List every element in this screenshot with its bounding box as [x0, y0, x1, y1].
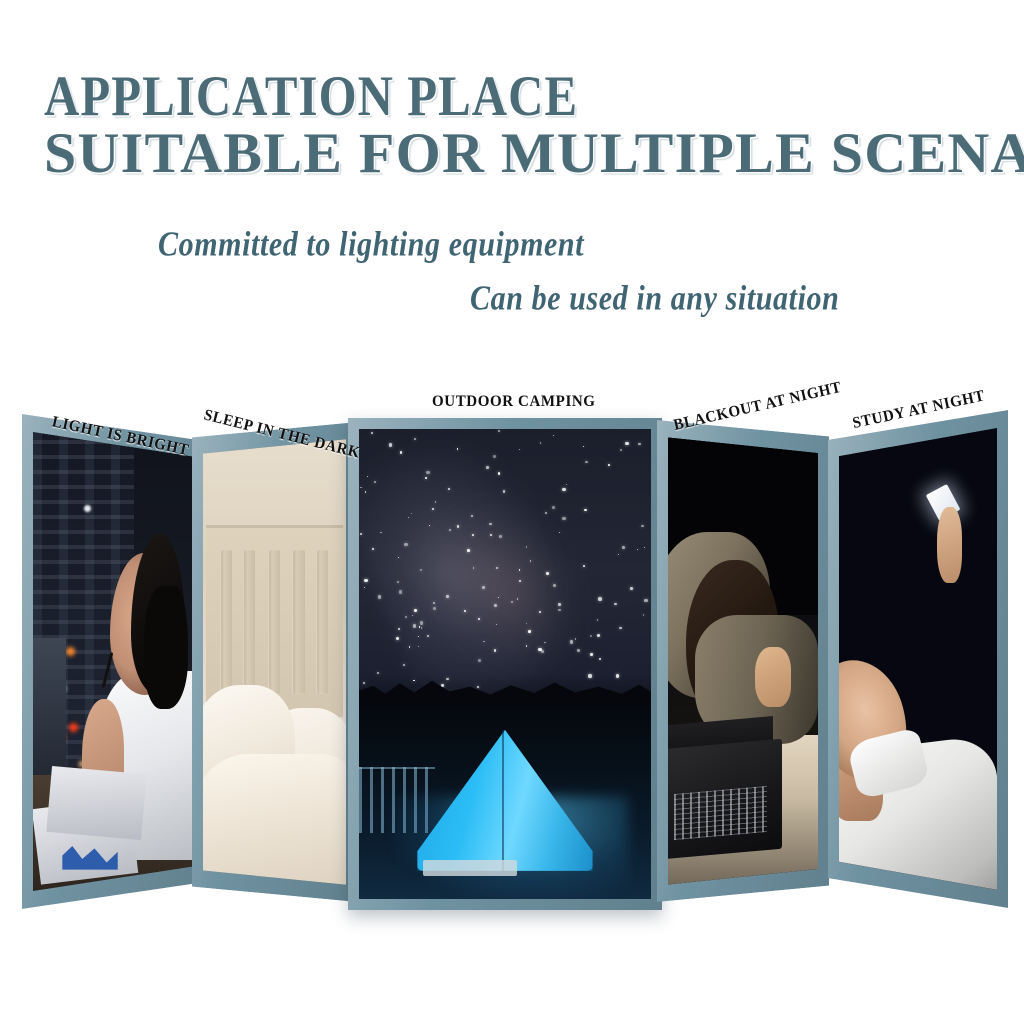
star	[433, 602, 435, 604]
laptop-keyboard	[674, 786, 767, 840]
star	[519, 449, 521, 451]
star	[446, 595, 449, 598]
scene-camping-night	[359, 429, 651, 899]
bokeh-light	[69, 723, 78, 732]
scene-study-night	[839, 421, 997, 897]
star	[464, 610, 466, 612]
star	[498, 597, 499, 598]
star	[403, 664, 405, 666]
star	[448, 488, 450, 490]
star	[473, 567, 474, 568]
star	[597, 634, 600, 637]
star	[414, 609, 417, 612]
star	[446, 678, 449, 681]
star	[526, 645, 527, 646]
star	[467, 549, 470, 552]
star	[566, 484, 568, 486]
scene-office-night	[33, 425, 196, 898]
scenario-panel-sleep-in-the-dark[interactable]	[192, 422, 357, 902]
page-subtitle: Committed to lighting equipment Can be u…	[0, 228, 1024, 316]
star	[490, 534, 492, 536]
star	[449, 529, 451, 531]
star	[435, 501, 437, 503]
star	[641, 525, 644, 528]
star	[584, 509, 587, 512]
star	[421, 627, 422, 628]
star	[494, 604, 497, 607]
star	[360, 487, 361, 488]
star	[420, 621, 423, 624]
star	[482, 586, 485, 589]
page-title: APPLICATION PLACE SUITABLE FOR MULTIPLE …	[44, 76, 1004, 176]
star	[425, 477, 427, 479]
star	[541, 650, 544, 653]
star	[630, 587, 633, 590]
subtitle-line-1: Committed to lighting equipment	[158, 225, 1024, 265]
star	[546, 572, 549, 575]
star	[489, 523, 491, 525]
headboard-slat	[316, 550, 328, 694]
star	[426, 471, 429, 474]
star	[643, 614, 645, 616]
star	[499, 535, 502, 538]
hand	[937, 507, 962, 583]
star	[418, 646, 419, 647]
star	[412, 615, 413, 616]
paper-sheet	[47, 766, 147, 840]
scene-bedroom	[203, 433, 346, 891]
star	[413, 680, 414, 681]
star	[371, 432, 373, 434]
hair-back	[144, 586, 188, 709]
star	[498, 430, 500, 432]
headline-line-1: APPLICATION PLACE	[44, 71, 1024, 124]
star	[420, 569, 422, 571]
star	[441, 684, 444, 687]
star	[494, 649, 497, 652]
star	[413, 624, 416, 627]
star	[496, 567, 498, 569]
star	[418, 636, 419, 637]
star	[519, 580, 521, 582]
star	[644, 547, 646, 549]
star	[503, 490, 506, 493]
star	[528, 630, 531, 633]
star	[477, 686, 479, 688]
star	[544, 642, 546, 644]
panel-photo-study-at-night	[839, 421, 997, 897]
star	[511, 601, 513, 603]
bokeh-light	[84, 505, 91, 512]
star	[585, 461, 587, 463]
star	[598, 597, 602, 601]
star	[583, 565, 585, 567]
star	[457, 448, 458, 449]
star	[526, 623, 527, 624]
scenario-panel-study-at-night[interactable]	[828, 410, 1008, 908]
star	[478, 659, 481, 662]
star	[616, 674, 619, 677]
star	[590, 653, 593, 656]
tent-seam	[502, 730, 504, 871]
star	[396, 637, 399, 640]
scenario-panel-light-is-bright[interactable]	[22, 414, 207, 909]
star	[374, 481, 376, 483]
star	[409, 646, 410, 647]
tent-base	[423, 860, 516, 875]
star	[378, 595, 381, 598]
panel-photo-sleep-in-the-dark	[203, 433, 346, 891]
star	[517, 598, 519, 600]
star	[478, 618, 479, 619]
star	[496, 624, 498, 626]
star	[558, 609, 560, 611]
star	[411, 513, 412, 514]
star	[526, 546, 528, 548]
star	[429, 525, 431, 527]
bokeh-light	[66, 647, 75, 656]
poster-stage: APPLICATION PLACE SUITABLE FOR MULTIPLE …	[0, 0, 1024, 1024]
star	[562, 517, 565, 520]
star	[519, 569, 521, 571]
star	[398, 557, 399, 558]
star	[558, 603, 561, 606]
star	[614, 603, 616, 605]
star	[471, 515, 473, 517]
star	[588, 674, 591, 677]
star	[364, 579, 367, 582]
star	[397, 581, 399, 583]
star	[599, 658, 602, 661]
star	[432, 508, 433, 509]
scenario-panel-group	[0, 372, 1024, 972]
star	[540, 442, 541, 443]
star	[404, 543, 407, 546]
star	[638, 443, 641, 446]
duvet	[203, 754, 346, 891]
headboard-slat	[292, 550, 304, 694]
panel-photo-blackout-at-night	[668, 431, 818, 891]
star	[644, 599, 647, 602]
star	[493, 455, 496, 458]
star	[408, 517, 409, 518]
star	[545, 512, 547, 514]
star	[389, 443, 392, 446]
star	[620, 449, 622, 451]
star	[360, 533, 362, 535]
star	[562, 488, 565, 491]
star	[372, 548, 374, 550]
scene-blackout-desk	[668, 431, 818, 891]
headboard-slat	[243, 550, 255, 694]
star	[539, 611, 541, 613]
headboard-slat	[268, 550, 280, 694]
star	[377, 672, 380, 675]
panel-photo-outdoor-camping	[359, 429, 651, 899]
star	[399, 590, 402, 593]
star	[427, 635, 429, 637]
star	[472, 534, 474, 536]
star	[625, 442, 629, 446]
headline-line-2: SUITABLE FOR MULTIPLE SCENARIOS	[44, 128, 1024, 181]
star	[433, 607, 436, 610]
star	[570, 640, 574, 644]
subtitle-line-2: Can be used in any situation	[470, 279, 1024, 319]
star	[597, 619, 599, 621]
star	[590, 635, 592, 637]
star	[608, 464, 610, 466]
star	[583, 446, 584, 447]
panel-photo-light-is-bright	[33, 425, 196, 898]
star	[457, 525, 460, 528]
star	[552, 506, 555, 509]
star	[619, 627, 621, 629]
star	[398, 628, 401, 631]
star	[553, 584, 556, 587]
panel-caption-outdoor-camping: OUTDOOR CAMPING	[432, 393, 596, 411]
star	[559, 532, 561, 534]
star	[530, 560, 531, 561]
star	[400, 451, 402, 453]
star	[419, 626, 420, 627]
star	[618, 554, 619, 555]
star	[486, 466, 489, 469]
star	[364, 587, 366, 589]
star	[414, 438, 416, 440]
star	[367, 476, 368, 477]
headboard-slat	[220, 550, 232, 694]
star	[498, 472, 501, 475]
star	[483, 641, 484, 642]
scenario-panel-blackout-at-night[interactable]	[657, 420, 829, 902]
star	[363, 682, 365, 684]
star	[553, 435, 554, 436]
star	[577, 649, 580, 652]
star	[637, 549, 639, 551]
star	[575, 638, 576, 639]
hand	[755, 647, 791, 707]
star	[405, 616, 408, 619]
scenario-panel-outdoor-camping[interactable]	[348, 418, 662, 910]
star	[380, 532, 381, 533]
star	[622, 546, 625, 549]
star	[365, 491, 367, 493]
